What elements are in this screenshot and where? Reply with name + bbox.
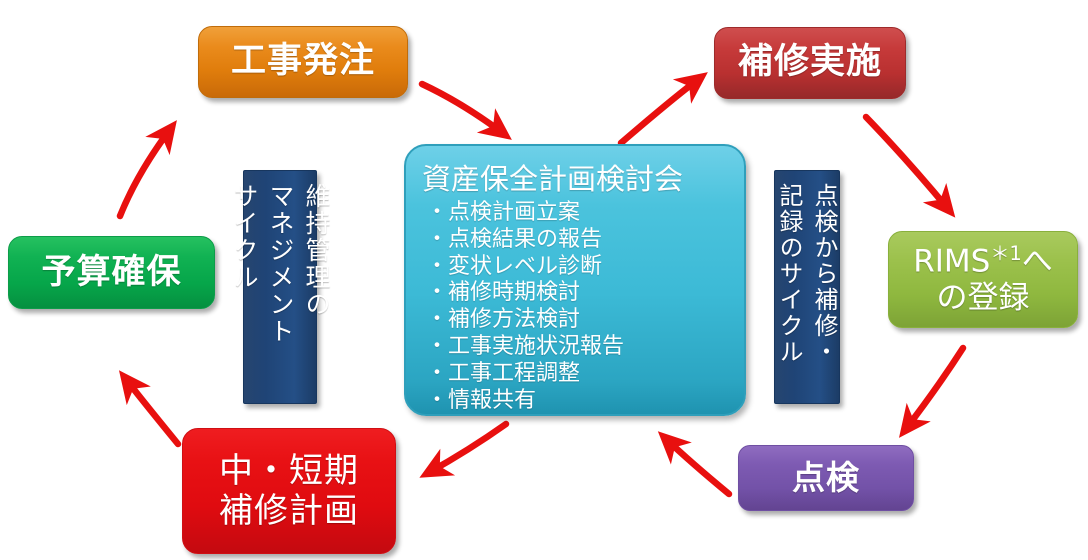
- arrow-budget-to-order: [120, 128, 171, 216]
- node-mid-short-term-repair-plan[interactable]: 中・短期 補修計画: [182, 428, 396, 554]
- node-budget-securing[interactable]: 予算確保: [8, 236, 215, 309]
- rims-suffix: へ: [1022, 243, 1053, 279]
- arrow-plan-to-budget: [125, 378, 178, 444]
- list-item: 変状レベル診断: [426, 254, 730, 281]
- center-panel-title: 資産保全計画検討会: [422, 156, 730, 198]
- node-rims-registration-line2: の登録: [937, 280, 1030, 317]
- list-item: 補修方法検討: [426, 307, 730, 334]
- list-item: 点検結果の報告: [426, 227, 730, 254]
- arrow-center-to-repair: [621, 78, 700, 143]
- vbar-maintenance-management-cycle[interactable]: 維持管理の マネジメント サイクル: [243, 170, 317, 404]
- node-repair-implementation-label: 補修実施: [738, 42, 882, 83]
- vbar-right-line-1: 点検から補修・: [807, 183, 842, 365]
- vbar-right-line-2: 記録のサイクル: [772, 183, 807, 365]
- center-panel-agenda-list: 点検計画立案 点検結果の報告 変状レベル診断 補修時期検討 補修方法検討 工事実…: [422, 200, 730, 415]
- arrow-order-to-center: [422, 84, 504, 134]
- node-budget-securing-label: 予算確保: [42, 252, 182, 292]
- node-inspection[interactable]: 点検: [738, 445, 914, 511]
- node-rims-registration[interactable]: RIMS＊1へ の登録: [888, 231, 1078, 328]
- vbar-left-line-3: サイクル: [226, 183, 262, 291]
- node-rims-registration-line1: RIMS＊1へ: [913, 243, 1053, 280]
- arrow-center-to-plan: [428, 424, 506, 473]
- node-inspection-label: 点検: [792, 459, 860, 498]
- list-item: 補修時期検討: [426, 280, 730, 307]
- vbar-left-line-2: マネジメント: [262, 183, 298, 345]
- rims-name: RIMS: [913, 243, 990, 279]
- node-repair-plan-line1: 中・短期: [219, 451, 359, 491]
- diagram-canvas: 工事発注 補修実施 予算確保 RIMS＊1へ の登録 中・短期 補修計画 点検 …: [0, 0, 1088, 560]
- node-construction-order[interactable]: 工事発注: [198, 26, 408, 98]
- vbar-left-line-1: 維持管理の: [298, 183, 334, 318]
- node-repair-plan-line2: 補修計画: [219, 491, 359, 531]
- list-item: 工事工程調整: [426, 361, 730, 388]
- arrow-inspect-to-center: [665, 438, 729, 494]
- list-item: 情報共有: [426, 388, 730, 415]
- vbar-inspection-to-repair-cycle[interactable]: 点検から補修・ 記録のサイクル: [774, 170, 840, 404]
- list-item: 点検計画立案: [426, 200, 730, 227]
- center-panel-asset-preservation-committee[interactable]: 資産保全計画検討会 点検計画立案 点検結果の報告 変状レベル診断 補修時期検討 …: [404, 144, 746, 416]
- node-repair-implementation[interactable]: 補修実施: [714, 27, 906, 99]
- arrow-rims-to-inspect: [905, 348, 963, 430]
- arrow-repair-to-rims: [866, 117, 949, 210]
- node-construction-order-label: 工事発注: [231, 41, 375, 82]
- list-item: 工事実施状況報告: [426, 334, 730, 361]
- rims-footnote-marker: ＊1: [990, 242, 1021, 265]
